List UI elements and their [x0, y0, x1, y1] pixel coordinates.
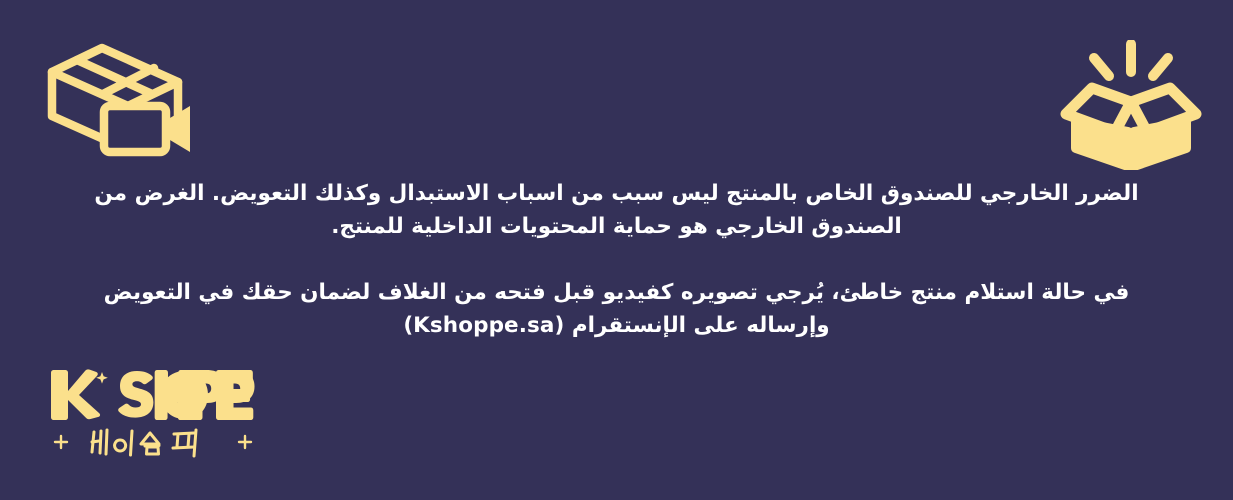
kshoppe-logo: KSHOPPE 케이숍피: [46, 362, 262, 462]
policy-copy: الضرر الخارجي للصندوق الخاص بالمنتج ليس …: [78, 178, 1155, 343]
open-box-icon: [1052, 40, 1210, 170]
policy-paragraph-damage: الضرر الخارجي للصندوق الخاص بالمنتج ليس …: [78, 178, 1155, 243]
logo-wordmark: [46, 362, 262, 424]
policy-paragraph-wrong-item: في حالة استلام منتج خاطئ، يُرجي تصويره ك…: [78, 277, 1155, 342]
return-policy-banner: الضرر الخارجي للصندوق الخاص بالمنتج ليس …: [0, 0, 1233, 500]
box-video-icon: [44, 42, 194, 158]
logo-wordmark-text: KSHOPPE: [262, 361, 263, 362]
instagram-handle: (Kshoppe.sa): [403, 313, 564, 338]
logo-subtitle: [46, 426, 262, 460]
logo-subtitle-text: 케이숍피: [262, 361, 263, 362]
policy-paragraph-wrong-item-text: في حالة استلام منتج خاطئ، يُرجي تصويره ك…: [104, 280, 1130, 338]
